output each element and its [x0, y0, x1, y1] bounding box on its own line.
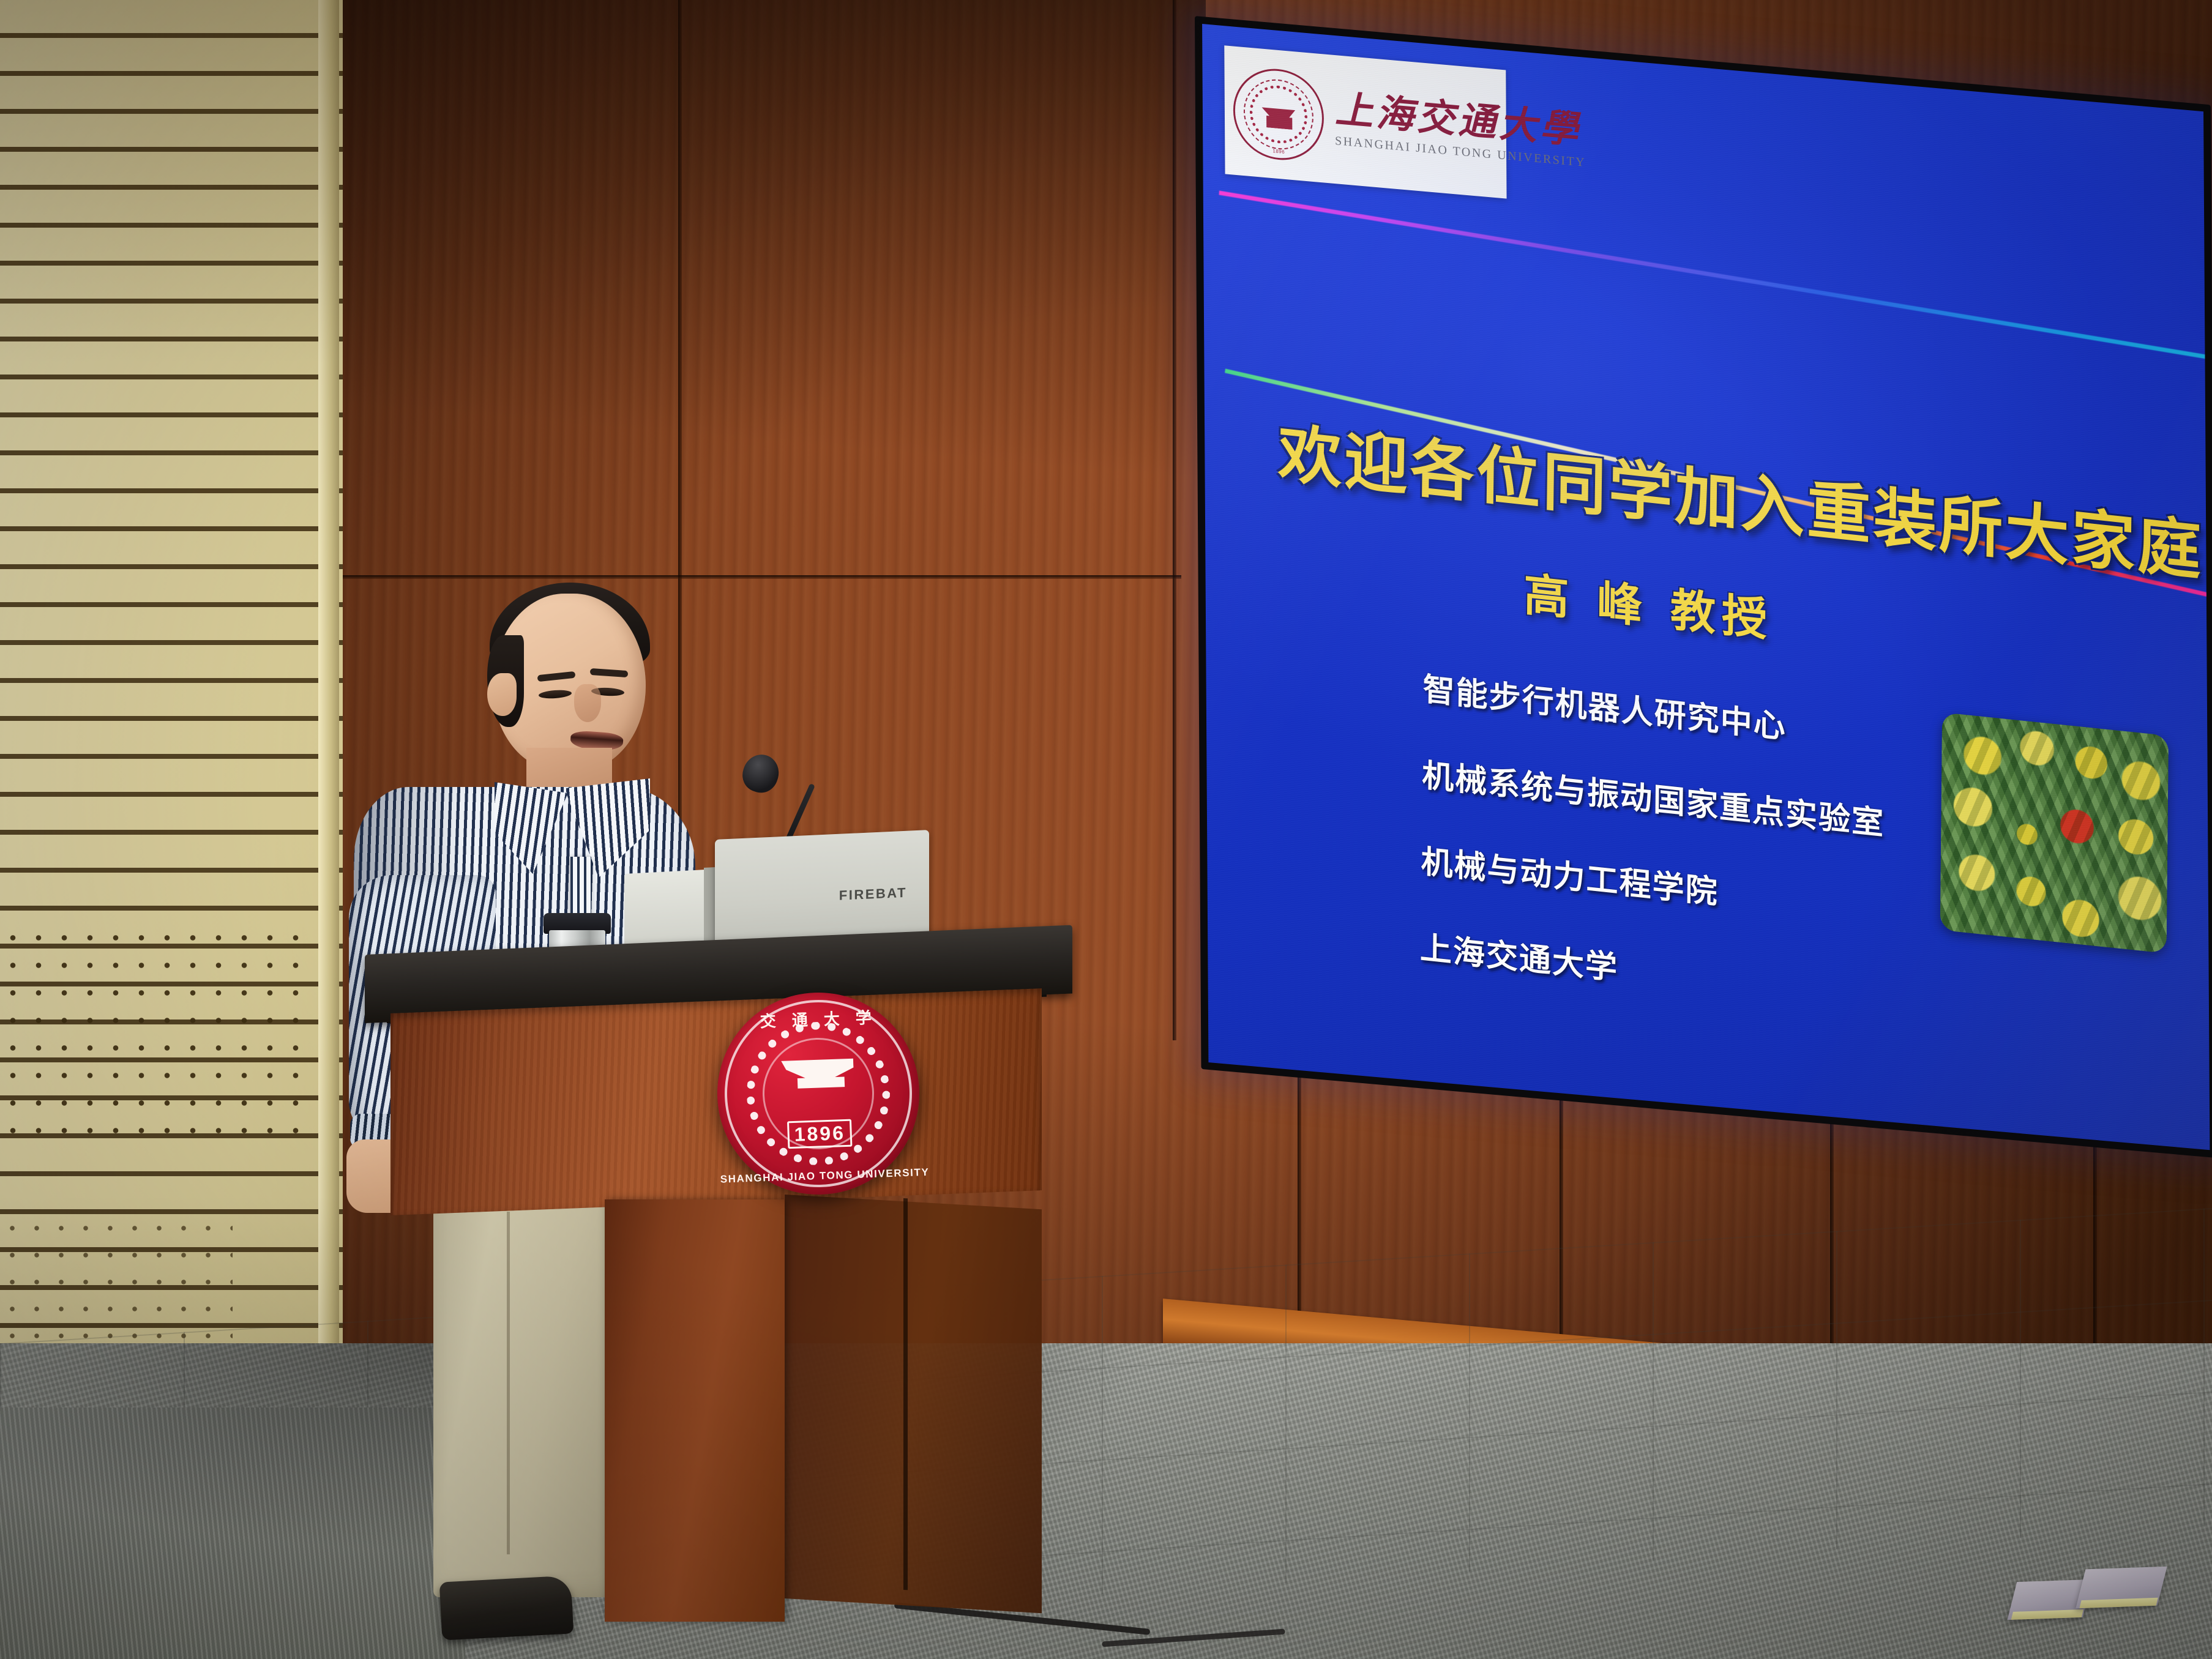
logo-text-block: 上海交通大學 SHANGHAI JIAO TONG UNIVERSITY [1335, 91, 1586, 170]
podium-side-panel [785, 1195, 1042, 1613]
lecture-hall-photo: 1896 上海交通大學 SHANGHAI JIAO TONG UNIVERSIT… [0, 0, 2212, 1659]
emblem-year: 1896 [787, 1119, 853, 1149]
tulip-field-photo [1940, 712, 2169, 953]
presenter-nose [574, 684, 601, 722]
presenter-ear [487, 673, 517, 716]
sjtu-seal-icon: 1896 [1233, 65, 1324, 163]
led-wall-screen[interactable]: 1896 上海交通大學 SHANGHAI JIAO TONG UNIVERSIT… [1195, 16, 2212, 1158]
affiliation-line: 机械与动力工程学院 [1421, 835, 1923, 934]
floor-booklet [2076, 1567, 2167, 1609]
floor-shadow [0, 1343, 2212, 1659]
presentation-slide[interactable]: 1896 上海交通大學 SHANGHAI JIAO TONG UNIVERSIT… [1202, 24, 2210, 1150]
affiliation-line: 机械系统与振动国家重点实验室 [1422, 749, 1924, 848]
sjtu-logo-plate: 1896 上海交通大學 SHANGHAI JIAO TONG UNIVERSIT… [1224, 45, 1506, 198]
slide-affiliation-list: 智能步行机器人研究中心 机械系统与振动国家重点实验室 机械与动力工程学院 上海交… [1419, 663, 1925, 1061]
laptop-brand-label: FIREBAT [839, 885, 907, 904]
podium-panel-seam [903, 1198, 908, 1590]
affiliation-line: 上海交通大学 [1420, 922, 1922, 1020]
podium-column [605, 1199, 785, 1622]
podium: 交通大学 1896 SHANGHAI JIAO TONG UNIVERSITY [365, 955, 1072, 1659]
affiliation-line: 智能步行机器人研究中心 [1422, 663, 1925, 762]
decor-gradient-line-magenta [1219, 191, 2210, 367]
slide-author: 高 峰 教授 [1523, 558, 1774, 650]
slide-title: 欢迎各位同学加入重装所大家庭! [1277, 401, 2210, 593]
